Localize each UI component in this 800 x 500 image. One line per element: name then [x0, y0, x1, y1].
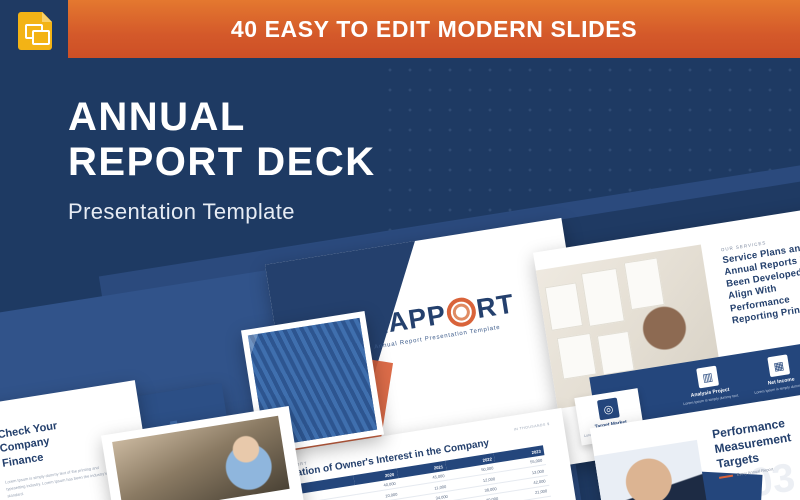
chart-bar-icon: ▥	[696, 366, 719, 389]
page-title: ANNUAL REPORT DECK	[68, 95, 376, 185]
google-slides-icon[interactable]	[18, 12, 52, 50]
service-card-income[interactable]: ▦ Net Income Lorem Ipsum is simply dummy…	[747, 351, 800, 397]
poster-canvas: RAPP RT Annual Report Presentation Templ…	[0, 0, 800, 500]
table-body: Revenue40,00045,00050,00055,000Operating…	[276, 455, 553, 500]
table-note: IN THOUSANDS $	[513, 422, 549, 432]
slides-icon-fold	[42, 12, 52, 22]
title-line-2: REPORT DECK	[68, 140, 376, 184]
target-icon: ◎	[597, 397, 620, 420]
page-subtitle: Presentation Template	[68, 199, 376, 225]
banner-text: 40 EASY TO EDIT MODERN SLIDES	[231, 16, 637, 43]
paper-2	[581, 268, 625, 327]
rapport-ring-icon	[445, 296, 478, 329]
paper-3	[624, 257, 665, 310]
paper-5	[597, 331, 635, 376]
title-line-1: ANNUAL	[68, 95, 246, 139]
headline-banner: 40 EASY TO EDIT MODERN SLIDES	[68, 0, 800, 58]
businessman-photo	[590, 440, 715, 500]
rapport-logo-text-2: RT	[474, 288, 516, 325]
finance-body: Lorem Ipsum is simply dummy text of the …	[5, 463, 117, 500]
slides-icon-rect-front	[32, 30, 50, 45]
paper-4	[557, 333, 597, 380]
top-bar: 40 EASY TO EDIT MODERN SLIDES	[0, 0, 800, 60]
paper-1	[545, 282, 583, 330]
hero-block: ANNUAL REPORT DECK Presentation Template	[68, 95, 376, 225]
money-icon: ▦	[767, 354, 790, 377]
service-card-analysis[interactable]: ▥ Analysis Project Lorem Ipsum is simply…	[675, 362, 742, 408]
finance-heading: Check Your Company Finance	[0, 414, 94, 471]
services-heading: Service Plans and Annual Reports Have Be…	[722, 239, 800, 327]
